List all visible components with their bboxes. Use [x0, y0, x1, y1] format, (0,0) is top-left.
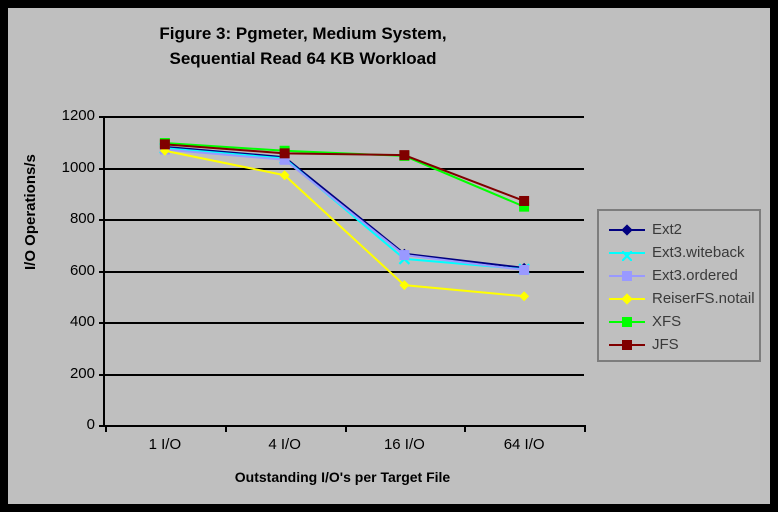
x-tick-label: 16 I/O	[384, 436, 425, 453]
x-tick-mark	[225, 425, 227, 432]
legend-label: XFS	[652, 313, 681, 330]
legend-label: Ext3.ordered	[652, 267, 738, 284]
series-line	[165, 151, 524, 296]
data-point	[399, 150, 409, 160]
figure-canvas: Figure 3: Pgmeter, Medium System, Sequen…	[8, 8, 770, 504]
plot-area: 020040060080010001200 1 I/O4 I/O16 I/O64…	[103, 116, 584, 427]
data-point	[519, 291, 529, 301]
x-axis-title: Outstanding I/O's per Target File	[103, 469, 582, 485]
legend-swatch-square-icon	[609, 268, 645, 284]
data-point	[519, 196, 529, 206]
y-axis-title: I/O Operations/s	[22, 154, 39, 270]
legend-label: Ext2	[652, 221, 682, 238]
x-tick-label: 64 I/O	[504, 436, 545, 453]
y-tick-label: 1200	[62, 107, 95, 124]
y-tick-label: 400	[70, 313, 95, 330]
legend-label: JFS	[652, 336, 679, 353]
legend-swatch-square-icon	[609, 337, 645, 353]
series-layer	[105, 116, 584, 425]
y-tick-label: 200	[70, 365, 95, 382]
y-tick-label: 800	[70, 210, 95, 227]
series-line	[165, 148, 524, 269]
x-tick-mark	[105, 425, 107, 432]
data-point	[399, 250, 409, 260]
legend-swatch-square-icon	[609, 314, 645, 330]
series-reiserfs-notail	[160, 146, 529, 301]
legend-swatch-diamond-icon	[609, 222, 645, 238]
y-tick-label: 600	[70, 262, 95, 279]
x-tick-mark	[584, 425, 586, 432]
x-tick-label: 4 I/O	[268, 436, 301, 453]
y-tick-label: 1000	[62, 159, 95, 176]
series-jfs	[160, 139, 529, 206]
data-point	[280, 148, 290, 158]
legend-item[interactable]: Ext3.witeback	[599, 241, 759, 264]
legend-swatch-cross-icon	[609, 245, 645, 261]
legend-item[interactable]: XFS	[599, 310, 759, 333]
series-ext3-witeback	[160, 143, 529, 274]
chart-title: Figure 3: Pgmeter, Medium System, Sequen…	[8, 21, 598, 71]
legend-item[interactable]: JFS	[599, 333, 759, 356]
data-point	[160, 139, 170, 149]
legend-item[interactable]: ReiserFS.notail	[599, 287, 759, 310]
data-point	[519, 265, 529, 275]
legend-item[interactable]: Ext3.ordered	[599, 264, 759, 287]
legend-item[interactable]: Ext2	[599, 218, 759, 241]
y-tick-label: 0	[87, 416, 95, 433]
legend-label: ReiserFS.notail	[652, 290, 755, 307]
chart-legend: Ext2Ext3.witebackExt3.orderedReiserFS.no…	[597, 209, 761, 362]
legend-label: Ext3.witeback	[652, 244, 745, 261]
legend-swatch-diamond-icon	[609, 291, 645, 307]
x-tick-label: 1 I/O	[149, 436, 182, 453]
x-tick-mark	[345, 425, 347, 432]
x-tick-mark	[464, 425, 466, 432]
